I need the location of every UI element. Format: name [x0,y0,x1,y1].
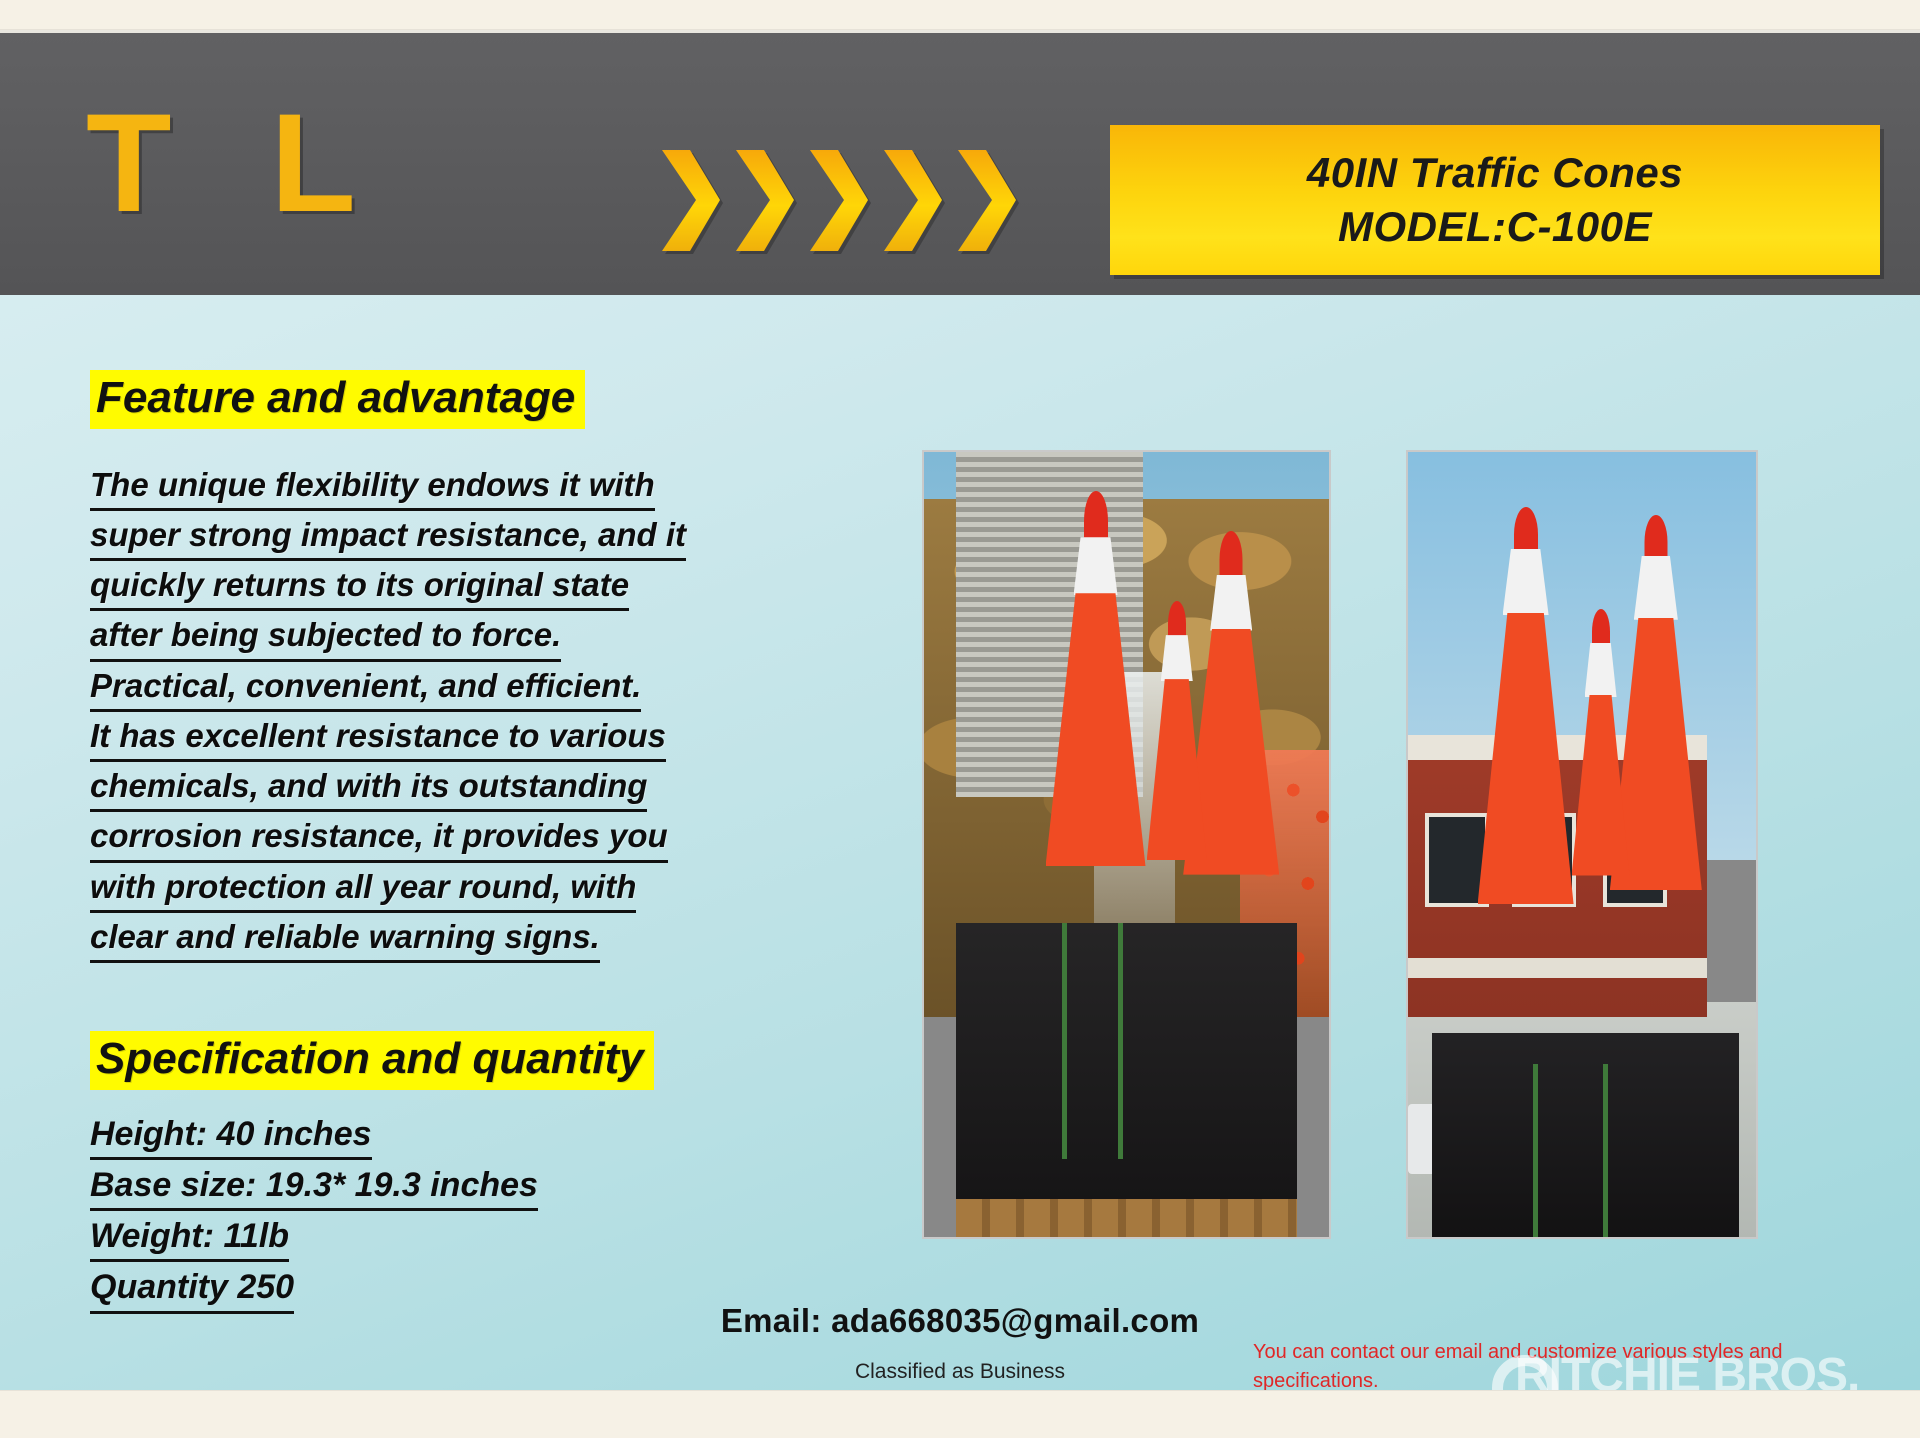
feature-line: It has excellent resistance to various [90,714,666,762]
product-model: MODEL:C-100E [1338,203,1652,251]
feature-line: clear and reliable warning signs. [90,915,600,963]
specification-heading: Specification and quantity [90,1031,654,1090]
header-bar: T L 40IN Traffic Cones MODEL:C-100E [0,30,1920,295]
product-title-box: 40IN Traffic Cones MODEL:C-100E [1110,125,1880,275]
traffic-cone [1572,609,1630,1002]
spec-line-weight: Weight: 11lb [90,1214,289,1262]
feature-line: super strong impact resistance, and it [90,513,686,561]
feature-line: with protection all year round, with [90,865,636,913]
photo1-strap [1062,923,1067,1159]
slide-canvas: T L 40IN Traffic Cones MODEL:C-100E Feat… [0,30,1920,1390]
content-left-column: Feature and advantage The unique flexibi… [90,370,850,1317]
traffic-cone [1046,491,1146,962]
traffic-cone [1147,601,1207,978]
chevron-right-icon [660,148,722,253]
chevron-right-icon [734,148,796,253]
feature-paragraph: The unique flexibility endows it with su… [90,463,850,963]
chevron-right-icon [808,148,870,253]
feature-line: Practical, convenient, and efficient. [90,664,641,712]
photo1-strap [1118,923,1123,1159]
feature-line: The unique flexibility endows it with [90,463,655,511]
spec-line-base-size: Base size: 19.3* 19.3 inches [90,1163,538,1211]
feature-heading: Feature and advantage [90,370,585,429]
photo2-strap [1533,1064,1538,1237]
photo2-strap [1603,1064,1608,1237]
customization-note: You can contact our email and customize … [1253,1338,1873,1390]
photo2-wrapped-pallet [1432,1033,1738,1237]
spec-line-height: Height: 40 inches [90,1112,372,1160]
traffic-cone [1478,507,1574,1009]
slide-page: T L 40IN Traffic Cones MODEL:C-100E Feat… [0,0,1920,1438]
specification-list: Height: 40 inches Base size: 19.3* 19.3 … [90,1112,850,1314]
product-photo-rockery [922,450,1331,1239]
feature-line: corrosion resistance, it provides you [90,814,668,862]
chevron-arrows-group [660,148,1080,253]
product-photo-outdoor [1406,450,1758,1239]
chevron-right-icon [882,148,944,253]
feature-line: after being subjected to force. [90,613,561,661]
photo1-wrapped-pallet [956,923,1296,1237]
feature-line: chemicals, and with its outstanding [90,764,647,812]
contact-email[interactable]: Email: ada668035@gmail.com [0,1302,1920,1340]
product-title: 40IN Traffic Cones [1307,149,1683,197]
chevron-right-icon [956,148,1018,253]
brand-logo: T L [86,93,386,233]
feature-line: quickly returns to its original state [90,563,629,611]
